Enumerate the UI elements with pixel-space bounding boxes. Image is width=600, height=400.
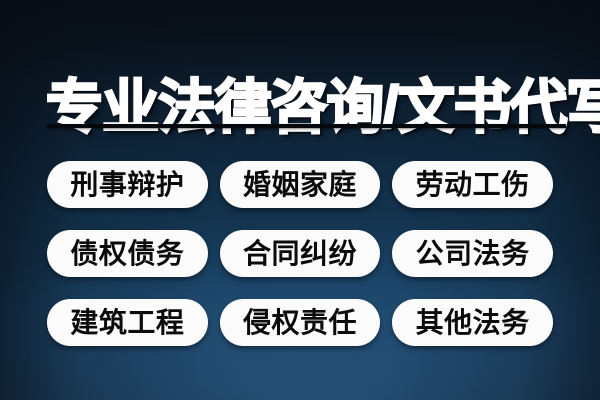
title-divider <box>47 124 566 128</box>
service-tag-tort-liability[interactable]: 侵权责任 <box>220 299 381 346</box>
service-tag-labor-injury[interactable]: 劳动工伤 <box>392 161 553 208</box>
service-tag-other-legal[interactable]: 其他法务 <box>392 299 553 346</box>
service-tag-construction-engineering[interactable]: 建筑工程 <box>47 299 208 346</box>
service-tag-row: 债权债务 合同纠纷 公司法务 <box>47 230 553 277</box>
service-tag-contract-dispute[interactable]: 合同纠纷 <box>220 230 381 277</box>
service-tag-marriage-family[interactable]: 婚姻家庭 <box>220 161 381 208</box>
legal-services-poster: 专业法律咨询/文书代写 刑事辩护 婚姻家庭 劳动工伤 债权债务 合同纠纷 公司法… <box>0 0 600 400</box>
poster-content: 专业法律咨询/文书代写 刑事辩护 婚姻家庭 劳动工伤 债权债务 合同纠纷 公司法… <box>0 0 600 400</box>
service-tag-creditor-debt[interactable]: 债权债务 <box>47 230 208 277</box>
service-tag-row: 建筑工程 侵权责任 其他法务 <box>47 299 553 346</box>
page-title: 专业法律咨询/文书代写 <box>46 69 548 147</box>
service-tag-row: 刑事辩护 婚姻家庭 劳动工伤 <box>47 161 553 208</box>
service-tag-grid: 刑事辩护 婚姻家庭 劳动工伤 债权债务 合同纠纷 公司法务 建筑工程 侵权责任 … <box>47 161 553 346</box>
service-tag-corporate-legal[interactable]: 公司法务 <box>392 230 553 277</box>
service-tag-criminal-defense[interactable]: 刑事辩护 <box>47 161 208 208</box>
